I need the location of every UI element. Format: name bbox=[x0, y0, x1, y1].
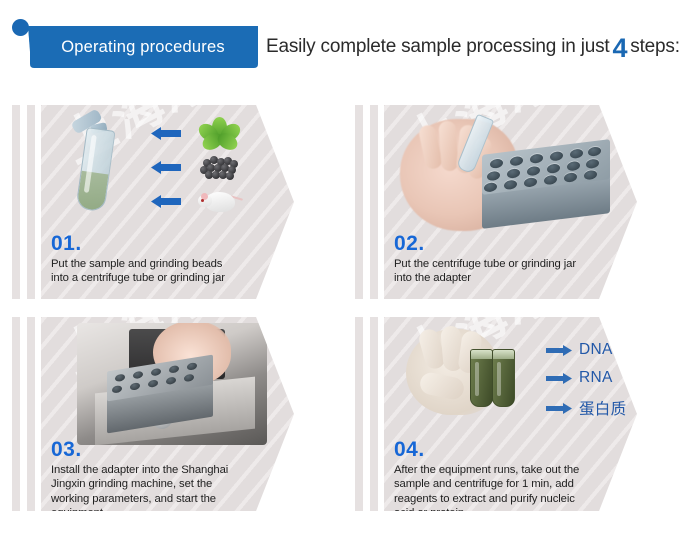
card-stripe-outer bbox=[355, 105, 363, 299]
page-title-step-count: 4 bbox=[609, 35, 630, 62]
page-title-suffix: steps: bbox=[630, 36, 680, 58]
step-04-illustration: DNA RNA 蛋白质 bbox=[406, 327, 636, 433]
card-body: 上海净信 bbox=[41, 317, 294, 511]
card-stripe-inner bbox=[27, 317, 35, 511]
arrow-left-icon bbox=[151, 195, 181, 208]
step-description: Put the centrifuge tube or grinding jar … bbox=[394, 257, 612, 286]
centrifuge-tube-icon bbox=[75, 125, 121, 215]
card-stripe-outer bbox=[12, 317, 20, 511]
sample-vial-icon bbox=[492, 349, 515, 407]
step-card-02: 上海净信 bbox=[355, 99, 671, 311]
step-description: After the equipment runs, take out the s… bbox=[394, 463, 609, 511]
step-01-illustration bbox=[51, 113, 281, 225]
card-body: 上海净信 bbox=[41, 105, 294, 299]
arrow-right-icon bbox=[546, 373, 572, 384]
grinding-beads-sample-icon bbox=[197, 151, 243, 185]
step-number: 03. bbox=[51, 439, 82, 460]
mouse-sample-icon bbox=[197, 185, 243, 219]
card-body: 上海净信 DN bbox=[384, 317, 637, 511]
card-stripe-inner bbox=[370, 105, 378, 299]
arrow-left-icon bbox=[151, 161, 181, 174]
arrow-left-icon bbox=[151, 127, 181, 140]
card-stripe-inner bbox=[370, 317, 378, 511]
card-body: 上海净信 bbox=[384, 105, 637, 299]
operating-procedures-infographic: Operating procedures Easily complete sam… bbox=[0, 0, 686, 538]
product-label: RNA bbox=[579, 369, 613, 387]
arrow-right-icon bbox=[546, 345, 572, 356]
header-dot-icon bbox=[12, 19, 29, 36]
card-stripe-outer bbox=[12, 105, 20, 299]
step-description: Put the sample and grinding beads into a… bbox=[51, 257, 266, 286]
product-row-protein: 蛋白质 bbox=[546, 397, 626, 419]
step-description: Install the adapter into the Shanghai Ji… bbox=[51, 463, 259, 511]
product-row-rna: RNA bbox=[546, 369, 613, 387]
step-card-04: 上海净信 DN bbox=[355, 311, 671, 523]
step-number: 02. bbox=[394, 233, 425, 254]
operating-procedures-badge-label: Operating procedures bbox=[28, 26, 258, 68]
product-row-dna: DNA bbox=[546, 341, 613, 359]
step-03-illustration bbox=[77, 323, 267, 445]
adapter-block-icon bbox=[482, 139, 610, 229]
card-stripe-outer bbox=[355, 317, 363, 511]
card-stripe-inner bbox=[27, 105, 35, 299]
product-label: 蛋白质 bbox=[579, 397, 626, 419]
arrow-right-icon bbox=[546, 403, 572, 414]
step-number: 01. bbox=[51, 233, 82, 254]
page-title-prefix: Easily complete sample processing in jus… bbox=[266, 36, 609, 58]
sample-vial-icon bbox=[470, 349, 493, 407]
page-title: Easily complete sample processing in jus… bbox=[266, 27, 680, 67]
leaf-sample-icon bbox=[197, 117, 243, 151]
step-card-03: 上海净信 bbox=[12, 311, 328, 523]
step-02-illustration bbox=[400, 109, 615, 239]
step-card-01: 上海净信 bbox=[12, 99, 328, 311]
page-header: Operating procedures Easily complete sam… bbox=[0, 0, 686, 90]
product-label: DNA bbox=[579, 341, 613, 359]
steps-grid: 上海净信 bbox=[0, 92, 686, 532]
step-number: 04. bbox=[394, 439, 425, 460]
